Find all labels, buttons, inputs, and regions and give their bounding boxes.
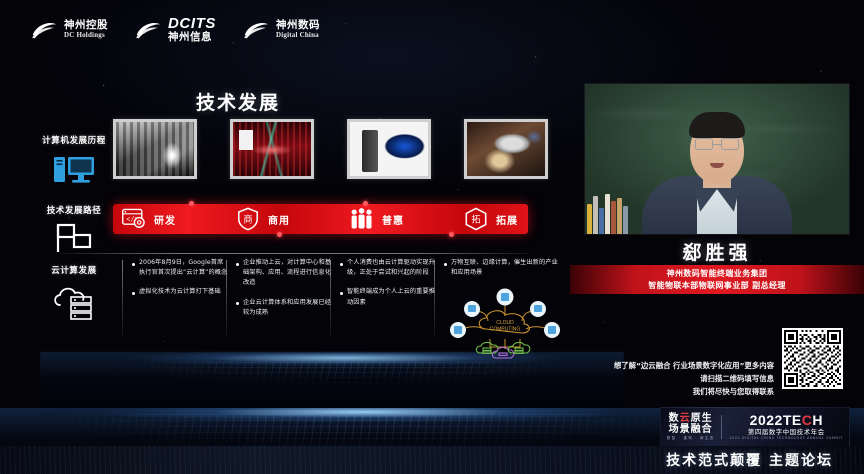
perspective-grid-upper <box>60 362 614 406</box>
diagram-center-label-1: CLOUD <box>496 320 514 326</box>
qr-line-1: 想了解“边云融合 行业场景数字化应用”更多内容 <box>584 360 774 373</box>
timeline-stage-yanfa[interactable]: </> 研发 <box>113 204 176 234</box>
bullet-dot <box>444 263 447 266</box>
flag-path-icon <box>53 221 95 255</box>
bottom-title-bar: 技术范式颠覆 主题论坛 <box>0 446 864 474</box>
swoosh-icon <box>242 19 270 41</box>
bookshelf-books <box>587 190 629 234</box>
qr-line-2: 请扫描二维码填写信息 <box>584 373 774 386</box>
timeline-label-shangyong: 商用 <box>268 212 290 227</box>
svg-text:拓: 拓 <box>471 214 480 226</box>
logo-dc-holdings: 神州控股 DC Holdings <box>30 19 108 41</box>
logo-digital-china: 神州数码 Digital China <box>242 19 320 41</box>
timeline-node-1 <box>189 201 194 206</box>
diagram-cloud-right <box>508 342 529 353</box>
speaker-name: 郄胜强 <box>570 238 864 265</box>
speaker-portrait <box>642 114 792 234</box>
shield-shang-icon: 商 <box>235 207 261 231</box>
svg-text:商: 商 <box>243 214 252 226</box>
presentation-stage: 神州控股 DC Holdings DCITS 神州信息 神州数码 Digital… <box>0 0 864 474</box>
timeline-label-puhui: 普惠 <box>382 212 404 227</box>
event-logo-left-sub: 数智 · 重构 · 新生态 <box>667 437 715 441</box>
diagram-center-label-2: COMPUTING <box>490 327 521 333</box>
cloud-column-2: 企业推动上云，对计算中心和基础架构、应用、流程进行信息化改造 企业云计算体系和应… <box>232 258 332 327</box>
speaker-title: 智能物联本部物联网事业部 副总经理 <box>648 280 786 291</box>
logo-dcits-cn: 神州信息 <box>168 32 216 43</box>
slide-title: 技术发展 <box>196 88 280 115</box>
event-logo: 数云原生 场景融合 数智 · 重构 · 新生态 2022TECH 第四届数字中国… <box>660 407 850 447</box>
row-label-computer-history: 计算机发展历程 <box>34 134 114 194</box>
list-item: 虚拟化技术为云计算打下基础 <box>132 287 228 297</box>
hexagon-tuo-icon: 拓 <box>463 207 489 231</box>
event-logo-line1: 数云原生 <box>667 413 715 424</box>
timeline-label-tuozhan: 拓展 <box>496 212 518 227</box>
timeline-node-4 <box>449 232 454 237</box>
diagram-node-upper-left <box>464 301 480 317</box>
eyeglasses-icon <box>721 138 739 150</box>
event-logo-year-tech: 2022TECH <box>729 413 843 428</box>
logo-dcits: DCITS 神州信息 <box>134 16 216 44</box>
people-group-icon <box>349 207 375 231</box>
photo-tianhe-supercomputer <box>230 119 314 179</box>
forum-title: 技术范式颠覆 主题论坛 <box>666 450 833 470</box>
bullet-dot <box>236 263 239 266</box>
bullet-dot <box>132 263 135 266</box>
event-logo-right-sub-en: 2022 DIGITAL CHINA TECHNOLOGY ANNUAL SUM… <box>729 437 843 440</box>
list-item: 企业云计算体系和应用发展已经较为成熟 <box>236 298 332 318</box>
diagram-node-lower-left <box>450 322 466 338</box>
row-label-tech-path: 技术发展路径 <box>34 204 114 259</box>
timeline-stage-tuozhan[interactable]: 拓 拓展 <box>463 204 518 234</box>
code-gear-icon: </> <box>121 207 147 231</box>
speaker-panel: 郄胜强 神州数码智能终端业务集团 智能物联本部物联网事业部 副总经理 <box>570 0 864 474</box>
logo-dc-holdings-en: DC Holdings <box>64 32 108 40</box>
contact-qr-code[interactable] <box>782 328 843 389</box>
diagram-node-lower-right <box>544 322 560 338</box>
photo-vr-headset <box>464 119 548 179</box>
desktop-computer-icon <box>52 152 96 190</box>
timeline-stage-shangyong[interactable]: 商 商用 <box>235 204 290 234</box>
event-logo-right: 2022TECH 第四届数字中国技术年会 2022 DIGITAL CHINA … <box>729 413 843 440</box>
list-item: 万物互联、边缘计算，催生出新的产业和应用场景 <box>444 258 558 278</box>
list-item: 2006年8月9日，Google首席执行官首次提出“云计算”的概念 <box>132 258 228 278</box>
timeline-stage-puhui[interactable]: 普惠 <box>349 204 404 234</box>
list-item: 企业推动上云，对计算中心和基础架构、应用、流程进行信息化改造 <box>236 258 332 289</box>
swoosh-icon <box>134 19 162 41</box>
qr-instruction-text: 想了解“边云融合 行业场景数字化应用”更多内容 请扫描二维码填写信息 我们将尽快… <box>584 360 774 399</box>
qr-line-3: 我们将尽快与您取得联系 <box>584 386 774 399</box>
development-timeline: </> 研发 商 商用 <box>113 204 528 234</box>
timeline-label-yanfa: 研发 <box>154 212 176 227</box>
event-logo-left: 数云原生 场景融合 数智 · 重构 · 新生态 <box>667 413 715 440</box>
logo-digital-china-cn: 神州数码 <box>276 20 320 31</box>
photo-personal-computer <box>347 119 431 179</box>
cloud-column-3: 个人消费也由云计算驱动实现升级，正处于尝试和兴起的阶段 智能终端成为个人上云的重… <box>336 258 436 317</box>
cloud-column-4: 万物互联、边缘计算，催生出新的产业和应用场景 <box>440 258 558 287</box>
list-item: 个人消费也由云计算驱动实现升级，正处于尝试和兴起的阶段 <box>340 258 436 278</box>
speaker-title-bar: 神州数码智能终端业务集团 智能物联本部物联网事业部 副总经理 <box>570 265 864 294</box>
bullet-dot <box>236 302 239 305</box>
brand-logo-bar: 神州控股 DC Holdings DCITS 神州信息 神州数码 Digital… <box>30 16 320 44</box>
swoosh-icon <box>30 19 58 41</box>
list-item: 智能终端成为个人上云的重要推动因素 <box>340 287 436 307</box>
logo-dc-holdings-cn: 神州控股 <box>64 20 108 31</box>
bullet-dot <box>340 292 343 295</box>
photo-early-computer-room <box>113 119 197 179</box>
cloud-column-1: 2006年8月9日，Google首席执行官首次提出“云计算”的概念 虚拟化技术为… <box>128 258 228 307</box>
logo-digital-china-en: Digital China <box>276 32 320 40</box>
logo-dcits-en: DCITS <box>168 16 216 32</box>
qr-contact-block: 想了解“边云融合 行业场景数字化应用”更多内容 请扫描二维码填写信息 我们将尽快… <box>584 308 852 390</box>
speaker-video-feed[interactable] <box>585 84 849 234</box>
cloud-computing-diagram: CLOUD COMPUTING <box>442 285 568 360</box>
diagram-node-top <box>497 289 514 306</box>
event-logo-line2: 场景融合 <box>667 424 715 435</box>
section-divider <box>60 253 530 254</box>
speaker-org: 神州数码智能终端业务集团 <box>667 268 768 279</box>
photo-strip <box>113 119 548 179</box>
bullet-dot <box>132 292 135 295</box>
eyeglasses-icon <box>695 138 713 150</box>
diagram-node-upper-right <box>530 301 546 317</box>
bullet-dot <box>340 263 343 266</box>
event-logo-right-sub: 第四届数字中国技术年会 <box>729 429 843 436</box>
event-logo-divider <box>721 415 722 439</box>
